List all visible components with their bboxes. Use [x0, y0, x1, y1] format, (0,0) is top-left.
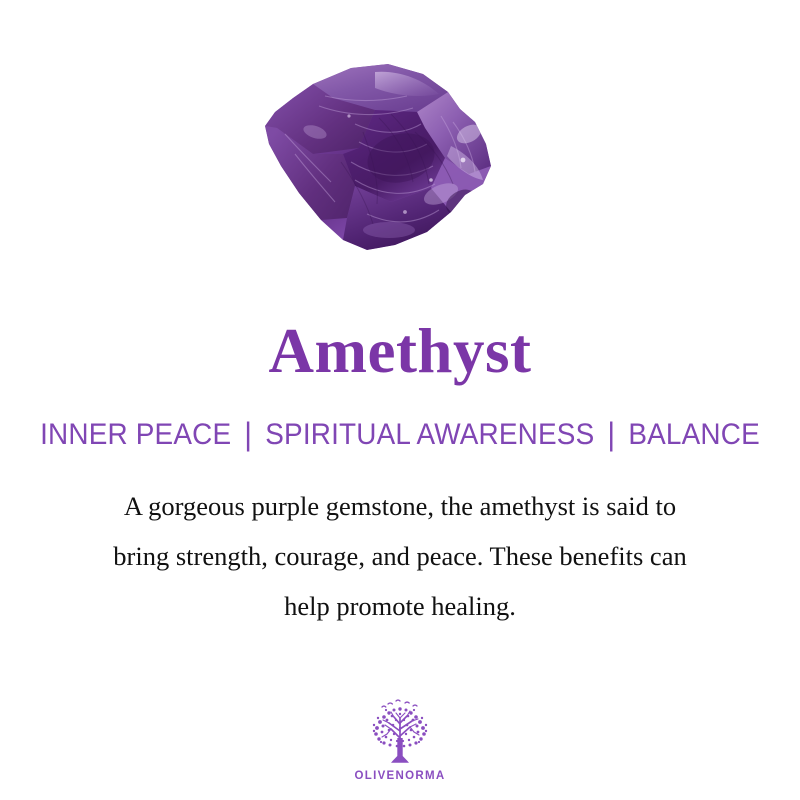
description-line: A gorgeous purple gemstone, the amethyst… [20, 481, 780, 531]
hero-image-area [0, 0, 800, 318]
brand-wordmark: OLIVENORMA [355, 770, 446, 782]
birds [382, 700, 417, 707]
olivenorma-tree-icon [361, 698, 439, 768]
keyword-separator: | [596, 418, 626, 450]
brand-logo: OLIVENORMA [0, 698, 800, 782]
keyword-strip: INNER PEACE | SPIRITUAL AWARENESS | BALA… [38, 419, 762, 451]
gem-facets [265, 64, 491, 250]
tree-canopy [373, 700, 427, 763]
description-text: A gorgeous purple gemstone, the amethyst… [20, 481, 780, 631]
keyword-balance: BALANCE [626, 420, 761, 450]
keyword-inner-peace: INNER PEACE [38, 420, 233, 450]
amethyst-crystal-image [255, 62, 545, 262]
keyword-spiritual-awareness: SPIRITUAL AWARENESS [263, 420, 596, 450]
page-title: Amethyst [269, 320, 532, 383]
description-line: help promote healing. [20, 581, 780, 631]
amethyst-product-card: Amethyst INNER PEACE | SPIRITUAL AWARENE… [0, 0, 800, 800]
keyword-separator: | [233, 418, 263, 450]
description-line: bring strength, courage, and peace. Thes… [20, 531, 780, 581]
amethyst-crystal-svg [255, 62, 545, 262]
